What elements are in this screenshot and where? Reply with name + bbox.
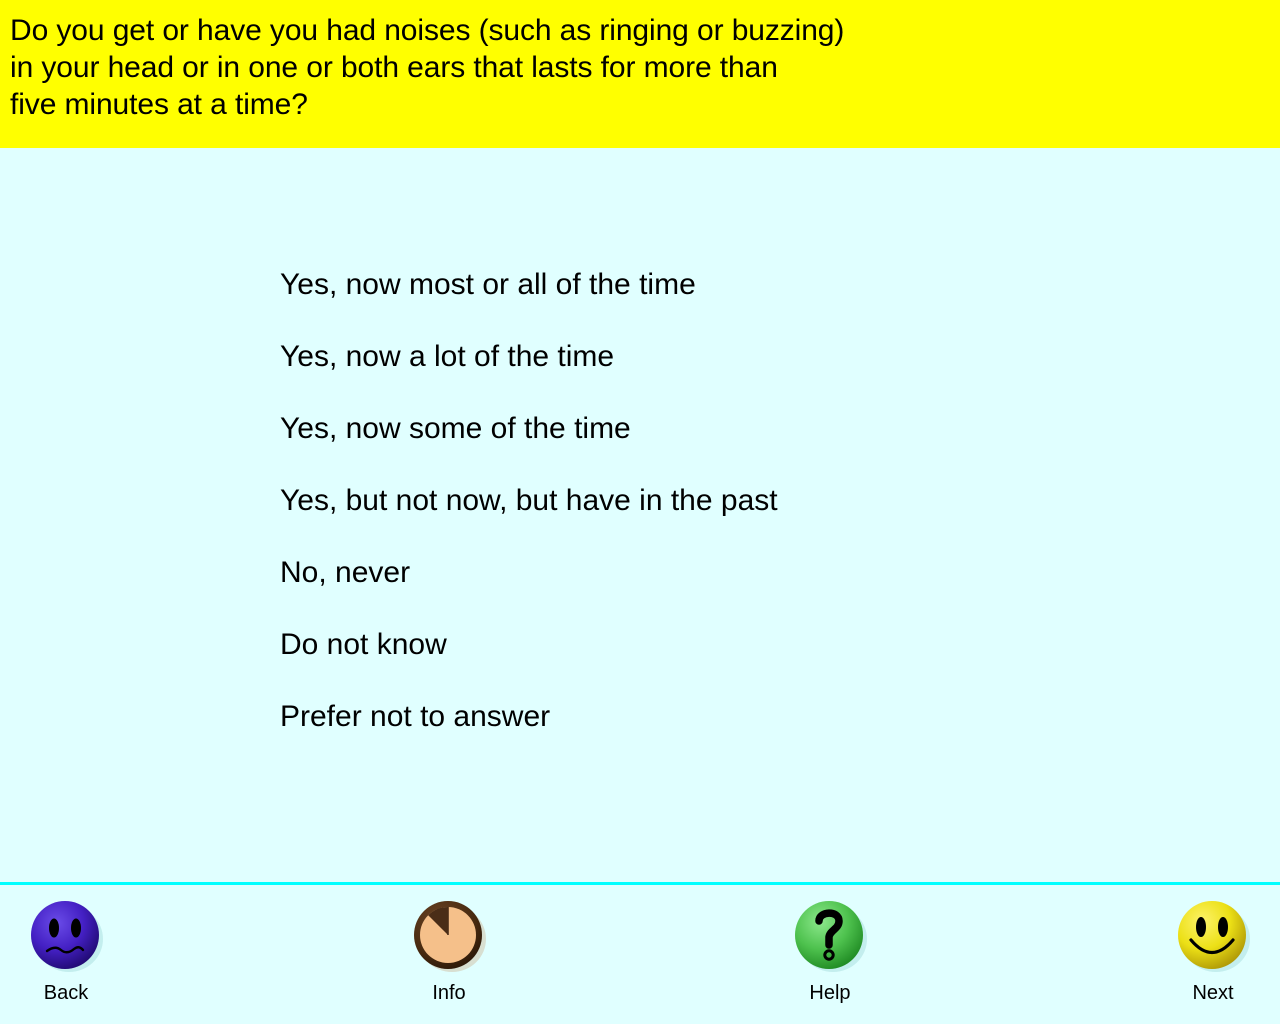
- next-button[interactable]: Next: [1153, 897, 1273, 1005]
- question-header: Do you get or have you had noises (such …: [0, 0, 1280, 148]
- info-button[interactable]: Info: [389, 897, 509, 1005]
- bottom-toolbar: Back: [0, 885, 1280, 1024]
- answer-option-label[interactable]: No, never: [280, 556, 410, 590]
- back-button[interactable]: Back: [6, 897, 126, 1005]
- pie-clock-icon[interactable]: [410, 897, 488, 975]
- answer-options-list: Yes, now most or all of the time Yes, no…: [280, 268, 1180, 772]
- answer-option-2[interactable]: Yes, now some of the time: [280, 412, 1180, 484]
- question-line-1: Do you get or have you had noises (such …: [10, 12, 1280, 49]
- next-button-label: Next: [1153, 981, 1273, 1005]
- sad-face-icon[interactable]: [27, 897, 105, 975]
- help-button-label: Help: [770, 981, 890, 1005]
- answer-option-5[interactable]: Do not know: [280, 628, 1180, 700]
- answer-option-6[interactable]: Prefer not to answer: [280, 700, 1180, 772]
- answer-option-label[interactable]: Yes, now most or all of the time: [280, 268, 696, 302]
- answer-option-1[interactable]: Yes, now a lot of the time: [280, 340, 1180, 412]
- answer-option-3[interactable]: Yes, but not now, but have in the past: [280, 484, 1180, 556]
- answer-option-label[interactable]: Prefer not to answer: [280, 700, 550, 734]
- answer-option-label[interactable]: Yes, now some of the time: [280, 412, 631, 446]
- answer-option-0[interactable]: Yes, now most or all of the time: [280, 268, 1180, 340]
- question-line-2: in your head or in one or both ears that…: [10, 49, 1280, 86]
- back-button-label: Back: [6, 981, 126, 1005]
- questionnaire-screen: Do you get or have you had noises (such …: [0, 0, 1280, 1024]
- question-line-3: five minutes at a time?: [10, 86, 1280, 123]
- answer-option-label[interactable]: Do not know: [280, 628, 447, 662]
- answer-option-label[interactable]: Yes, but not now, but have in the past: [280, 484, 778, 518]
- answer-option-4[interactable]: No, never: [280, 556, 1180, 628]
- help-button[interactable]: Help: [770, 897, 890, 1005]
- info-button-label: Info: [389, 981, 509, 1005]
- question-mark-icon[interactable]: [791, 897, 869, 975]
- answer-option-label[interactable]: Yes, now a lot of the time: [280, 340, 614, 374]
- smiley-face-icon[interactable]: [1174, 897, 1252, 975]
